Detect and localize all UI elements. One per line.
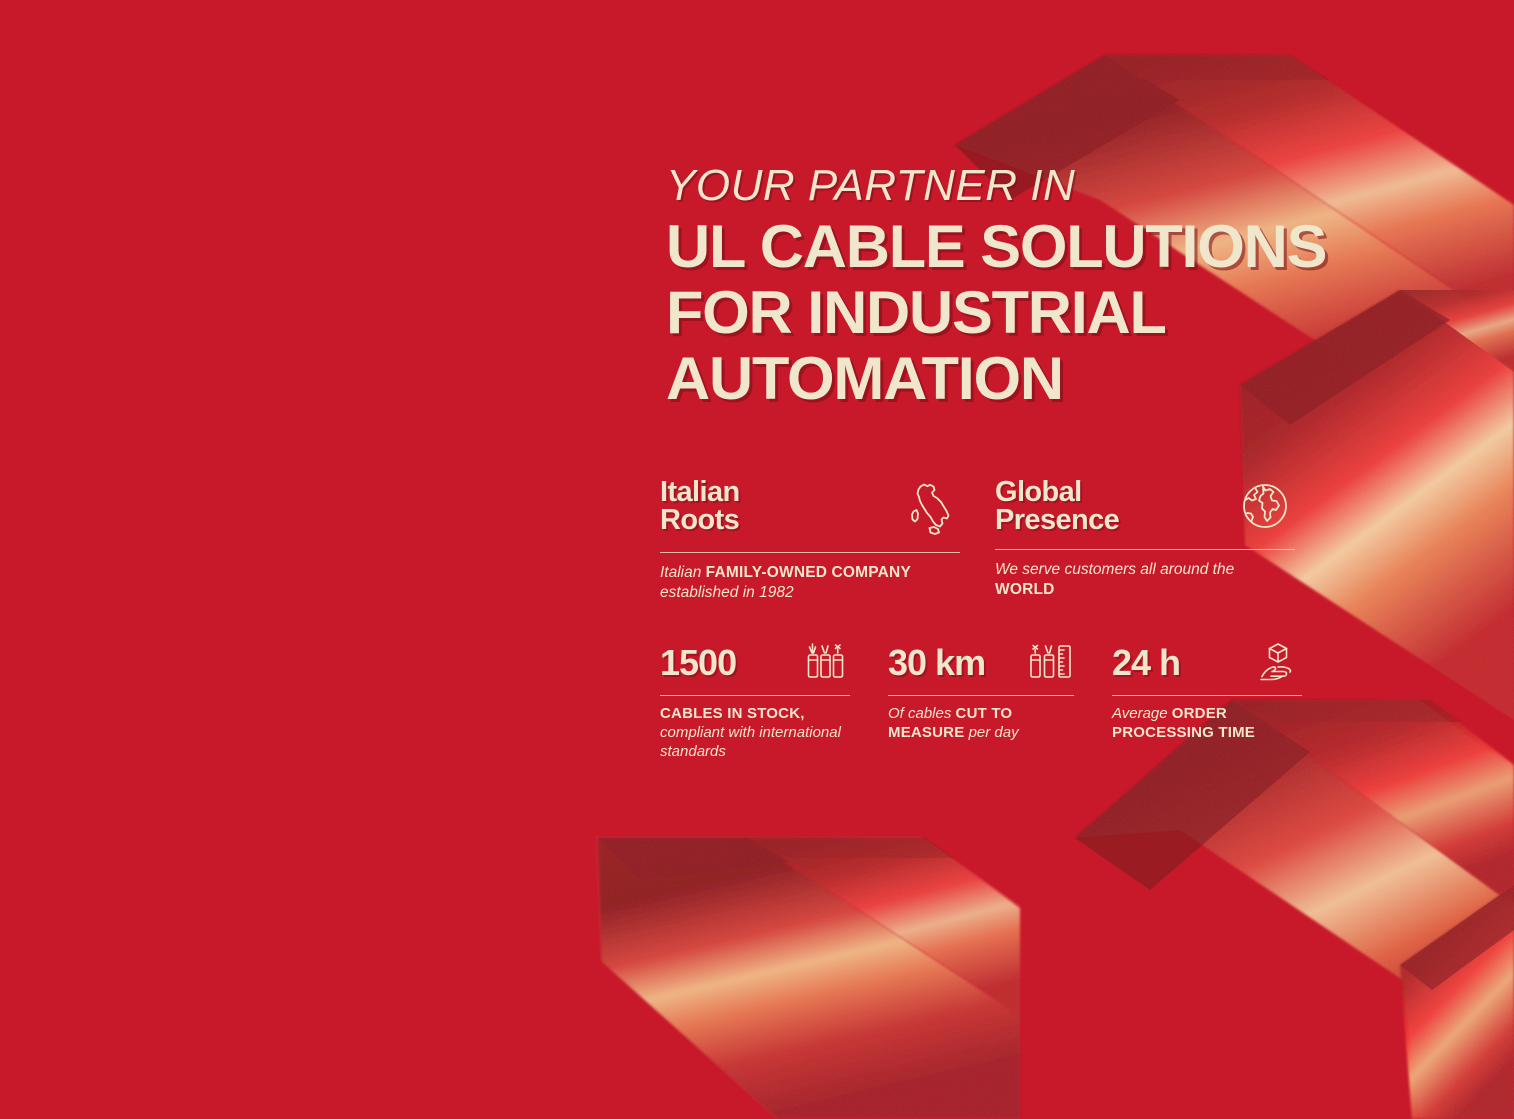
feature-body-rendered: We serve customers all around the WORLD bbox=[995, 561, 1234, 598]
divider bbox=[995, 549, 1295, 550]
stat-body-rendered: Of cables CUT TO MEASURE per day bbox=[888, 705, 1019, 741]
feature-body: Italian FAMILY-OWNED COMPANY established… bbox=[660, 563, 960, 603]
hero-headline-line-3: AUTOMATION bbox=[666, 346, 1380, 412]
hero-headline-block: YOUR PARTNER IN UL CABLE SOLUTIONS FOR I… bbox=[666, 160, 1366, 412]
feature-body: We serve customers all around the WORLD … bbox=[995, 560, 1295, 600]
hero-headline-line-2: FOR INDUSTRIAL bbox=[666, 280, 1380, 346]
italy-map-icon bbox=[900, 480, 956, 543]
three-cables-icon bbox=[804, 641, 850, 690]
feature-title-line-2: Roots bbox=[660, 506, 740, 534]
feature-title-line-1: Global bbox=[995, 478, 1119, 506]
poster-canvas: YOUR PARTNER IN UL CABLE SOLUTIONS FOR I… bbox=[0, 0, 1514, 1119]
feature-card-row: Italian Roots Italian FAMILY-OWNED COMPA… bbox=[660, 478, 1310, 603]
stat-card-cables-in-stock: 1500 bbox=[660, 645, 850, 761]
hand-box-icon bbox=[1256, 641, 1302, 690]
feature-title: Global Presence bbox=[995, 478, 1119, 534]
hero-headline: UL CABLE SOLUTIONS FOR INDUSTRIAL AUTOMA… bbox=[666, 214, 1366, 412]
feature-card-italian-roots: Italian Roots Italian FAMILY-OWNED COMPA… bbox=[660, 478, 960, 603]
stat-body: Of cables CUT TO MEASURE per day Of cabl… bbox=[888, 704, 1074, 742]
feature-body-rendered: Italian FAMILY-OWNED COMPANY established… bbox=[660, 564, 911, 601]
feature-title-line-2: Presence bbox=[995, 506, 1119, 534]
stat-card-header: 30 km bbox=[888, 645, 1074, 687]
stat-card-row: 1500 bbox=[660, 645, 1302, 761]
divider bbox=[660, 695, 850, 696]
stat-body: Average ORDER PROCESSING TIME Average OR… bbox=[1112, 704, 1302, 742]
feature-card-global-presence: Global Presence We serve custome bbox=[995, 478, 1295, 603]
stat-card-order-processing-time: 24 h bbox=[1112, 645, 1302, 761]
stat-card-header: 1500 bbox=[660, 645, 850, 687]
hero-headline-line-1: UL CABLE SOLUTIONS bbox=[666, 214, 1380, 280]
stat-value: 1500 bbox=[660, 645, 736, 681]
feature-title: Italian Roots bbox=[660, 478, 740, 534]
hero-kicker: YOUR PARTNER IN bbox=[666, 160, 1366, 212]
stat-body-rendered: Average ORDER PROCESSING TIME bbox=[1112, 705, 1255, 741]
divider bbox=[660, 552, 960, 553]
divider bbox=[888, 695, 1074, 696]
divider bbox=[1112, 695, 1302, 696]
stat-body-rendered: CABLES IN STOCK, compliant with internat… bbox=[660, 705, 841, 760]
feature-card-header: Global Presence bbox=[995, 478, 1295, 540]
stat-value: 30 km bbox=[888, 645, 985, 681]
stat-body: CABLES IN STOCK, compliant with internat… bbox=[660, 704, 850, 761]
feature-title-line-1: Italian bbox=[660, 478, 740, 506]
globe-icon bbox=[1239, 480, 1291, 537]
feature-card-header: Italian Roots bbox=[660, 478, 960, 543]
stat-card-header: 24 h bbox=[1112, 645, 1302, 687]
cables-ruler-icon bbox=[1028, 641, 1074, 690]
stat-value: 24 h bbox=[1112, 645, 1180, 681]
stat-card-cut-to-measure: 30 km bbox=[888, 645, 1074, 761]
